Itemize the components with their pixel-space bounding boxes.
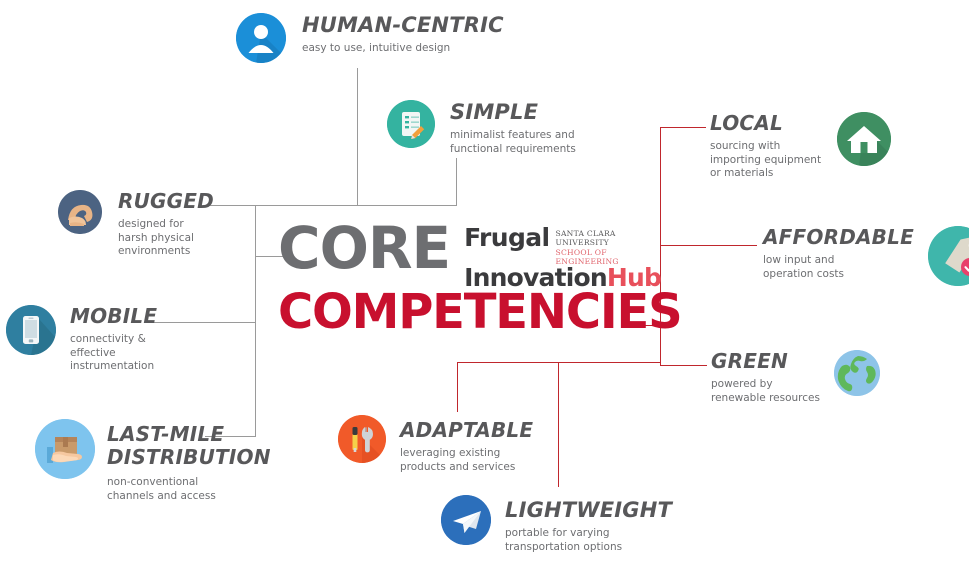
connector-left-spine <box>255 205 256 436</box>
node-description: leveraging existing products and service… <box>400 447 533 474</box>
connector-local <box>660 127 706 128</box>
core-word: CORE <box>278 222 450 275</box>
smartphone-icon <box>6 305 56 355</box>
node-human-centric[interactable]: HUMAN-CENTRIC easy to use, intuitive des… <box>236 13 504 63</box>
connector-human-centric <box>357 68 358 206</box>
node-local[interactable]: LOCAL sourcing with importing equipment … <box>710 112 891 181</box>
node-description: minimalist features and functional requi… <box>450 129 576 156</box>
tools-icon <box>338 415 386 463</box>
connector-top-spine <box>255 205 457 206</box>
price-tag-check-icon <box>928 226 969 286</box>
connector-green <box>660 365 707 366</box>
frugal-innovation-hub-logo: Frugal SANTA CLARA UNIVERSITY SCHOOL OF … <box>464 226 661 290</box>
node-rugged[interactable]: RUGGED designed for harsh physical envir… <box>58 190 214 259</box>
node-title: LOCAL <box>710 113 821 134</box>
logo-scu-block: SANTA CLARA UNIVERSITY SCHOOL OF ENGINEE… <box>556 229 662 267</box>
node-mobile[interactable]: MOBILE connectivity & effective instrume… <box>6 305 157 374</box>
node-title: GREEN <box>711 351 820 372</box>
node-title: AFFORDABLE <box>763 227 914 248</box>
house-icon <box>837 112 891 166</box>
node-adaptable[interactable]: ADAPTABLE leveraging existing products a… <box>338 415 533 474</box>
globe-icon <box>834 350 880 396</box>
node-description: powered by renewable resources <box>711 378 820 405</box>
hand-package-icon <box>35 419 95 479</box>
node-title: RUGGED <box>118 191 214 212</box>
node-simple[interactable]: SIMPLE minimalist features and functiona… <box>387 100 576 156</box>
node-affordable[interactable]: AFFORDABLE low input and operation costs <box>763 226 969 286</box>
flexed-bicep-icon <box>58 190 102 234</box>
node-description: portable for varying transportation opti… <box>505 527 672 554</box>
infographic-canvas: CORE Frugal SANTA CLARA UNIVERSITY SCHOO… <box>0 0 969 564</box>
connector-adaptable <box>457 362 458 412</box>
person-icon <box>236 13 286 63</box>
checklist-pencil-icon <box>387 100 435 148</box>
node-title: HUMAN-CENTRIC <box>302 14 504 36</box>
paper-plane-icon <box>441 495 491 545</box>
node-description: low input and operation costs <box>763 254 914 281</box>
competencies-word: COMPETENCIES <box>278 288 658 336</box>
logo-university: SANTA CLARA UNIVERSITY <box>556 229 662 248</box>
node-green[interactable]: GREEN powered by renewable resources <box>711 350 880 405</box>
node-last-mile-distribution[interactable]: LAST-MILE DISTRIBUTION non-conventional … <box>35 419 271 504</box>
node-description: designed for harsh physical environments <box>118 218 214 259</box>
node-title: MOBILE <box>70 306 157 327</box>
connector-lightweight <box>558 362 559 487</box>
connector-bottom-spine <box>457 362 661 363</box>
node-title: LIGHTWEIGHT <box>505 499 672 521</box>
connector-mobile <box>150 322 256 323</box>
center-lockup: CORE Frugal SANTA CLARA UNIVERSITY SCHOO… <box>278 222 658 336</box>
node-description: non-conventional channels and access <box>107 476 271 503</box>
node-lightweight[interactable]: LIGHTWEIGHT portable for varying transpo… <box>441 495 672 554</box>
connector-simple <box>456 158 457 206</box>
node-title: SIMPLE <box>450 101 576 123</box>
node-description: easy to use, intuitive design <box>302 42 504 56</box>
logo-frugal: Frugal <box>464 226 549 250</box>
node-title: ADAPTABLE <box>400 420 533 441</box>
node-description: sourcing with importing equipment or mat… <box>710 140 821 181</box>
node-title: LAST-MILE DISTRIBUTION <box>107 423 271 469</box>
node-description: connectivity & effective instrumentation <box>70 333 157 374</box>
connector-affordable <box>660 245 757 246</box>
